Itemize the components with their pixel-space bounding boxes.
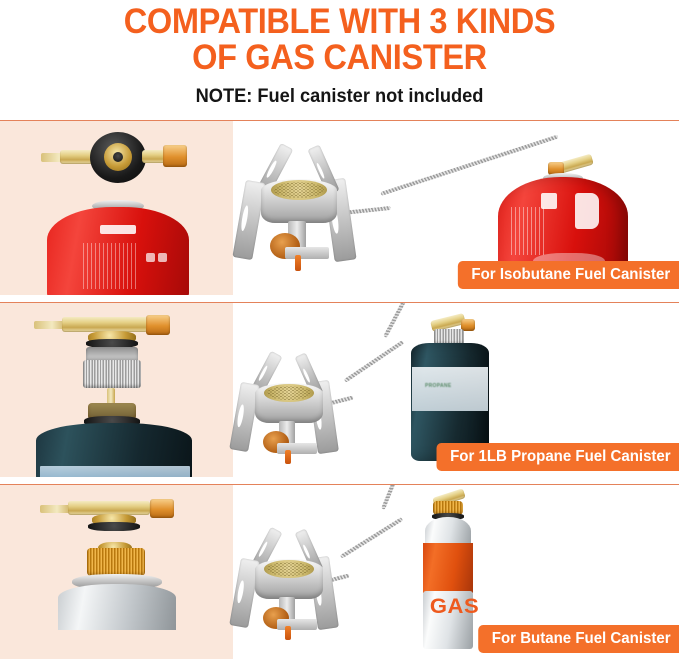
adapter-center-port xyxy=(113,152,123,162)
page-title-line-2: OF GAS CANISTER xyxy=(24,40,655,76)
stove-base-plate-propane xyxy=(277,443,317,454)
canister-print-ticks-right xyxy=(511,207,547,255)
fuel-hose-butane-mid xyxy=(340,517,403,559)
badge-butane: For Butane Fuel Canister xyxy=(478,625,679,653)
panel-list: For Isobutane Fuel Canister xyxy=(0,120,679,659)
butane-canister-gas-text: GAS xyxy=(430,595,479,619)
panel-propane: PROPANE For 1LB Propane Fuel Canister xyxy=(0,302,679,477)
stove-ignition-lever-butane xyxy=(285,626,291,640)
stove-burner-mesh xyxy=(274,182,324,198)
stove-ignition-lever-propane xyxy=(285,450,291,464)
fuel-hose-propane-mid xyxy=(344,340,404,382)
badge-propane: For 1LB Propane Fuel Canister xyxy=(436,443,679,471)
panel-butane-left-art xyxy=(0,485,233,659)
adapter-oring-butane xyxy=(88,522,140,531)
stove-base-plate-butane xyxy=(277,619,317,630)
butane-canister-orange-band xyxy=(423,543,473,593)
adapter-control-knob-butane xyxy=(150,499,174,518)
propane-label-band-left xyxy=(40,466,190,477)
adapter-valve-body-propane xyxy=(62,317,148,332)
canister-white-patch xyxy=(575,193,599,229)
fuel-hose-propane xyxy=(383,302,414,338)
adapter-butane xyxy=(0,485,233,659)
propane-label-text: PROPANE xyxy=(425,383,485,389)
adapter-isobutane xyxy=(0,121,233,295)
stove-burner-mesh-butane xyxy=(267,562,311,576)
badge-isobutane: For Isobutane Fuel Canister xyxy=(458,261,679,289)
panel-isobutane-right-art: For Isobutane Fuel Canister xyxy=(233,121,679,295)
stove-burner-mesh-propane xyxy=(267,386,311,400)
adapter-valve-body-butane xyxy=(68,501,150,515)
adapter-knurled-coupler xyxy=(86,347,138,361)
panel-isobutane: For Isobutane Fuel Canister xyxy=(0,120,679,295)
canister-label-patch xyxy=(100,225,136,234)
propane-label-band-right xyxy=(412,367,488,411)
panel-propane-right-art: PROPANE For 1LB Propane Fuel Canister xyxy=(233,303,679,477)
adapter-control-knob xyxy=(163,145,187,167)
panel-butane-right-art: GAS For Butane Fuel Canister xyxy=(233,485,679,659)
adapter-propane xyxy=(0,303,233,477)
butane-canister-dome-left xyxy=(58,584,176,630)
canister-print-ticks xyxy=(83,243,139,289)
page-title-line-1: COMPATIBLE WITH 3 KINDS xyxy=(24,4,655,40)
adapter-knurled-grip xyxy=(83,360,141,388)
stove-ignition-lever xyxy=(295,255,301,271)
fuel-hose-butane xyxy=(381,484,408,510)
header: COMPATIBLE WITH 3 KINDS OF GAS CANISTER … xyxy=(0,0,679,109)
panel-propane-left-art xyxy=(0,303,233,477)
adapter-control-knob-propane xyxy=(146,315,170,335)
butane-threaded-collar xyxy=(87,548,145,576)
canister-side-mark-2 xyxy=(158,253,167,262)
panel-isobutane-left-art xyxy=(0,121,233,295)
stove-base-plate xyxy=(285,247,329,259)
butane-canister-body-left xyxy=(58,625,176,659)
canister-side-mark-1 xyxy=(146,253,155,262)
panel-butane: GAS For Butane Fuel Canister xyxy=(0,484,679,659)
note-text: NOTE: Fuel canister not included xyxy=(14,85,666,109)
